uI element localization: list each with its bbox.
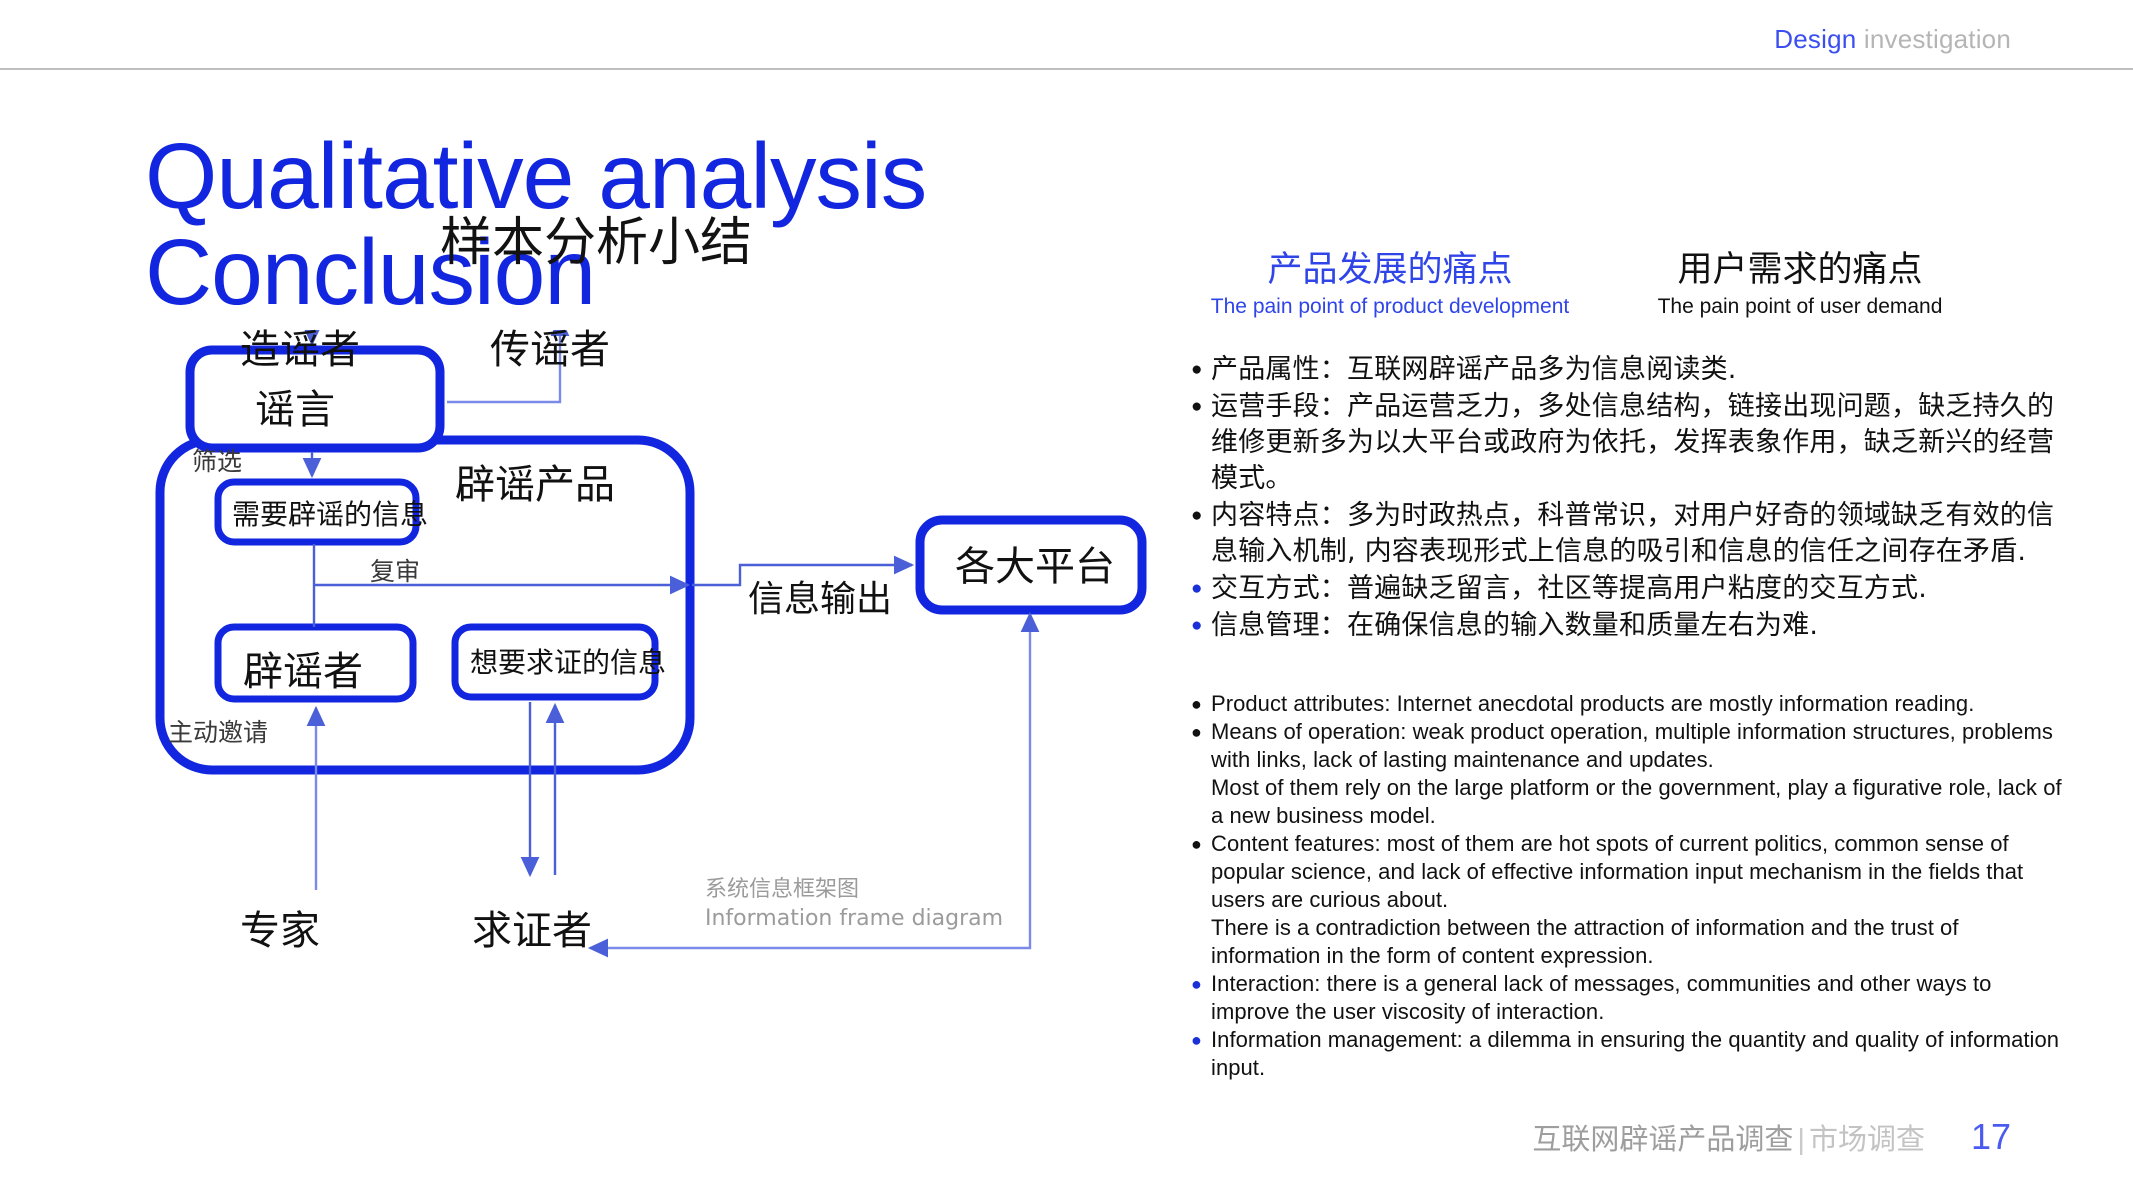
label-refuter: 辟谣者	[243, 639, 363, 697]
bullet-text: 交互方式：普遍缺乏留言，社区等提高用户粘度的交互方式.	[1211, 571, 2071, 607]
label-edge-active-invite: 主动邀请	[168, 713, 268, 749]
label-edge-info-output: 信息输出	[748, 570, 892, 622]
bullet-marker: ●	[1191, 975, 1211, 993]
bullet-marker: ●	[1191, 360, 1211, 379]
bullet-subtext: Most of them rely on the large platform …	[1211, 774, 2071, 830]
label-rumor-maker: 造谣者	[240, 317, 360, 375]
bullet-item: ●产品属性：互联网辟谣产品多为信息阅读类.	[1191, 352, 2071, 388]
bullet-marker: ●	[1191, 506, 1211, 525]
bullet-marker: ●	[1191, 723, 1211, 741]
page-number: 17	[1971, 1116, 2011, 1158]
right-panel: 产品发展的痛点 The pain point of product develo…	[1180, 0, 2133, 1200]
diagram-caption-cn: 系统信息框架图	[705, 875, 1003, 904]
bullet-text: 运营手段：产品运营乏力，多处信息结构，链接出现问题，缺乏持久的维修更新多为以大平…	[1211, 389, 2071, 497]
diagram-caption-en: Information frame diagram	[705, 904, 1003, 933]
bullet-item: ●信息管理：在确保信息的输入数量和质量左右为难.	[1191, 608, 2071, 644]
label-edge-screen: 筛选	[192, 442, 242, 478]
label-want-verify-info: 想要求证的信息	[470, 641, 666, 681]
footer: 互联网辟谣产品调查 | 市场调查 17	[1532, 1116, 2011, 1158]
pain-point-user-cn: 用户需求的痛点	[1600, 250, 2000, 290]
bullet-item: ●Interaction: there is a general lack of…	[1191, 970, 2071, 1026]
bullet-text: Means of operation: weak product operati…	[1211, 718, 2071, 830]
slide-root: Design investigation Qualitative analysi…	[0, 0, 2133, 1200]
footer-separator: |	[1793, 1124, 1809, 1157]
label-need-refute-info: 需要辟谣的信息	[232, 493, 428, 533]
pain-point-product-cn: 产品发展的痛点	[1180, 250, 1600, 290]
bullet-marker: ●	[1191, 1031, 1211, 1049]
bullet-list-en: ●Product attributes: Internet anecdotal …	[1191, 690, 2071, 1082]
label-rumor: 谣言	[255, 377, 335, 435]
bullet-text: Interaction: there is a general lack of …	[1211, 970, 2071, 1026]
bullet-item: ●内容特点：多为时政热点，科普常识，对用户好奇的领域缺乏有效的信息输入机制, 内…	[1191, 498, 2071, 570]
bullet-text: 信息管理：在确保信息的输入数量和质量左右为难.	[1211, 608, 2071, 644]
label-verifier: 求证者	[472, 898, 592, 956]
footer-section: 市场调查	[1809, 1116, 1925, 1158]
label-refute-product: 辟谣产品	[455, 452, 615, 510]
bullet-item: ●Means of operation: weak product operat…	[1191, 718, 2071, 830]
bullet-marker: ●	[1191, 616, 1211, 635]
bullet-item: ●Product attributes: Internet anecdotal …	[1191, 690, 2071, 718]
label-expert: 专家	[240, 898, 320, 956]
pain-point-product: 产品发展的痛点 The pain point of product develo…	[1180, 250, 1600, 320]
bullet-text: 产品属性：互联网辟谣产品多为信息阅读类.	[1211, 352, 2071, 388]
label-platforms: 各大平台	[955, 534, 1115, 592]
information-frame-diagram: 造谣者 传谣者 谣言 筛选 需要辟谣的信息 辟谣产品 复审 辟谣者 想要求证的信…	[0, 330, 1180, 1070]
bullet-text: 内容特点：多为时政热点，科普常识，对用户好奇的领域缺乏有效的信息输入机制, 内容…	[1211, 498, 2071, 570]
bullet-item: ●Content features: most of them are hot …	[1191, 830, 2071, 970]
bullet-marker: ●	[1191, 695, 1211, 713]
bullet-subtext: There is a contradiction between the att…	[1211, 914, 2071, 970]
bullet-text: Content features: most of them are hot s…	[1211, 830, 2071, 970]
pain-point-user: 用户需求的痛点 The pain point of user demand	[1600, 250, 2000, 320]
bullet-marker: ●	[1191, 579, 1211, 598]
diagram-caption: 系统信息框架图 Information frame diagram	[705, 875, 1003, 933]
bullet-item: ●交互方式：普遍缺乏留言，社区等提高用户粘度的交互方式.	[1191, 571, 2071, 607]
pain-point-product-en: The pain point of product development	[1180, 294, 1600, 320]
title-subtitle-cn: 样本分析小结	[440, 200, 752, 275]
bullet-text: Product attributes: Internet anecdotal p…	[1211, 690, 2071, 718]
bullet-marker: ●	[1191, 835, 1211, 853]
bullet-marker: ●	[1191, 397, 1211, 416]
pain-point-user-en: The pain point of user demand	[1600, 294, 2000, 320]
label-rumor-spreader: 传谣者	[490, 317, 610, 375]
bullet-list-cn: ●产品属性：互联网辟谣产品多为信息阅读类.●运营手段：产品运营乏力，多处信息结构…	[1191, 352, 2071, 645]
bullet-item: ●运营手段：产品运营乏力，多处信息结构，链接出现问题，缺乏持久的维修更新多为以大…	[1191, 389, 2071, 497]
footer-project: 互联网辟谣产品调查	[1532, 1116, 1793, 1158]
label-edge-review: 复审	[370, 552, 420, 588]
diagram-canvas	[0, 330, 1180, 1070]
bullet-item: ●Information management: a dilemma in en…	[1191, 1026, 2071, 1082]
bullet-text: Information management: a dilemma in ens…	[1211, 1026, 2071, 1082]
